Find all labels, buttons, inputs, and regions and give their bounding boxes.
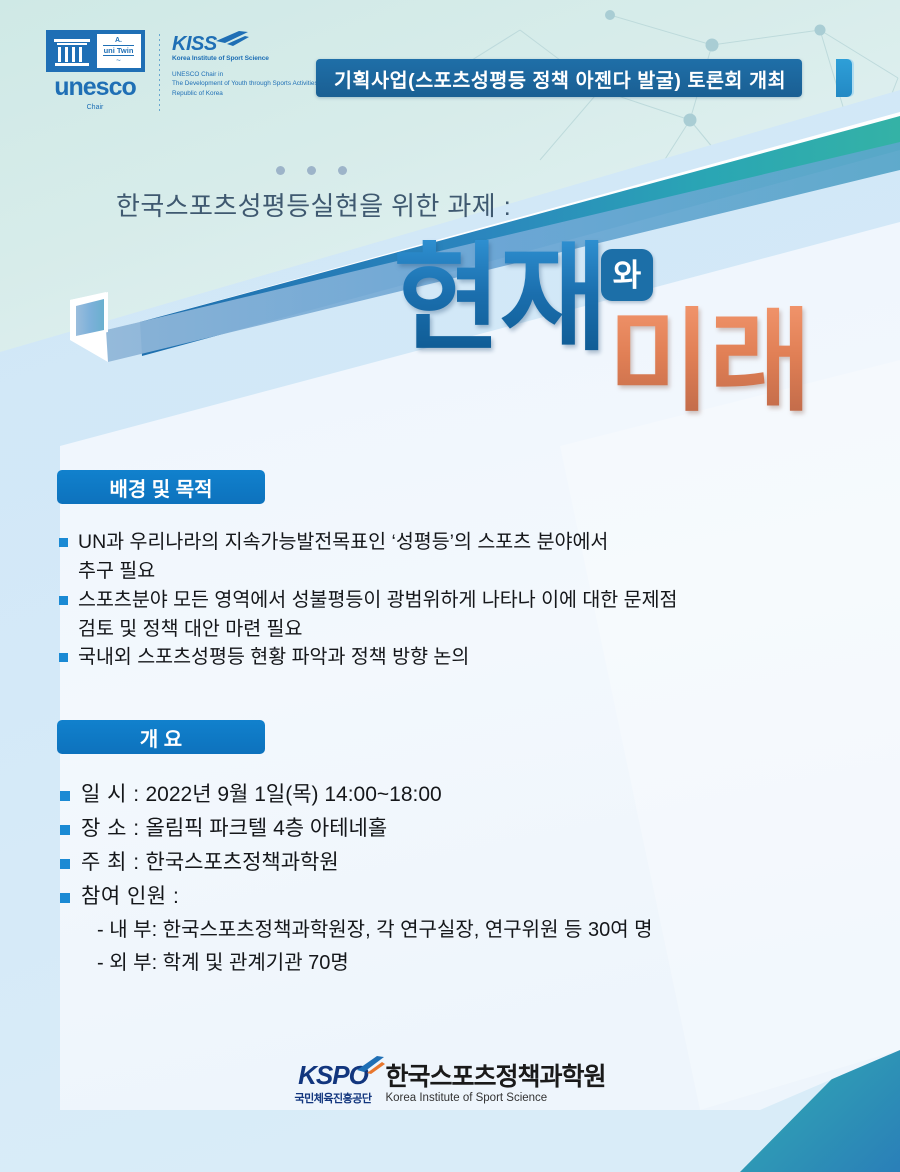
kiss-chair-block: UNESCO Chair in The Development of Youth… (172, 70, 318, 98)
kspo-swoosh-icon (355, 1054, 385, 1074)
overview-label-3: 참여 인원 : (81, 880, 179, 914)
decorative-dots (276, 166, 347, 175)
list-item: 장 소 : 올림픽 파크텔 4층 아테네홀 (57, 812, 900, 846)
list-item: UN과 우리나라의 지속가능발전목표인 ‘성평등’의 스포츠 분야에서 (57, 528, 900, 557)
logo-divider (159, 34, 160, 111)
background-bullet-list: UN과 우리나라의 지속가능발전목표인 ‘성평등’의 스포츠 분야에서 추구 필… (57, 528, 900, 672)
kiss-footer-korean: 한국스포츠정책과학원 (385, 1064, 605, 1092)
list-item-cont: 검토 및 정책 대안 마련 필요 (57, 615, 900, 644)
bullet-line-1: UN과 우리나라의 지속가능발전목표인 ‘성평등’의 스포츠 분야에서 (78, 531, 608, 553)
section1-pill: 배경 및 목적 (57, 470, 265, 504)
overview-value-1: 올림픽 파크텔 4층 아테네홀 (146, 817, 388, 840)
overview-value-2: 한국스포츠정책과학원 (146, 851, 339, 874)
overview-list: 일 시 : 2022년 9월 1일(목) 14:00~18:00 장 소 : 올… (57, 778, 900, 914)
section-header-overview: 개 요 (57, 720, 242, 756)
bullet-line-3: 국내외 스포츠성평등 현황 파악과 정책 방향 논의 (78, 646, 469, 668)
kiss-footer-english: Korea Institute of Sport Science (385, 1092, 605, 1104)
list-item: 참여 인원 : (57, 880, 900, 914)
kiss-wordmark: KISS (172, 34, 217, 54)
list-item: 스포츠분야 모든 영역에서 성불평등이 광범위하게 나타나 이에 대한 문제점 (57, 586, 900, 615)
kiss-swoosh-icon (215, 30, 249, 46)
kiss-chair-line3: Republic of Korea (172, 89, 318, 98)
list-item: 국내외 스포츠성평등 현황 파악과 정책 방향 논의 (57, 643, 900, 672)
kiss-chair-line1: UNESCO Chair in (172, 70, 318, 79)
overview-label-0: 일 시 : (81, 778, 140, 812)
kiss-chair-line2: The Development of Youth through Sports … (172, 79, 318, 88)
header-banner-text: 기획사업(스포츠성평등 정책 아젠다 발굴) 토론회 개최 (334, 64, 786, 93)
participant-sublist: - 내 부: 한국스포츠정책과학원장, 각 연구실장, 연구위원 등 30여 명… (57, 914, 900, 979)
unitwin-bot: ~ (116, 57, 121, 65)
overview-value-0: 2022년 9월 1일(목) 14:00~18:00 (146, 783, 442, 806)
section-header-background: 배경 및 목적 (57, 470, 242, 506)
banner-tab-inner (836, 59, 852, 97)
kiss-logo: KISS Korea Institute of Sport Science UN… (172, 30, 318, 98)
hero-subtitle: 한국스포츠성평등실현을 위한 과제 : (116, 186, 511, 223)
unitwin-icon: A. uni Twin ~ (97, 34, 141, 68)
kiss-subtitle: Korea Institute of Sport Science (172, 55, 318, 62)
overview-label-1: 장 소 : (81, 812, 140, 846)
bullet-line-1b: 추구 필요 (78, 560, 155, 582)
bullet-line-2b: 검토 및 정책 대안 마련 필요 (78, 618, 302, 640)
logo-group: A. uni Twin ~ unesco Chair KISS Korea In… (45, 30, 318, 111)
bullet-line-2: 스포츠분야 모든 영역에서 성불평등이 광범위하게 나타나 이에 대한 문제점 (78, 589, 677, 611)
list-item: 일 시 : 2022년 9월 1일(목) 14:00~18:00 (57, 778, 900, 812)
kspo-subtitle: 국민체육진흥공단 (295, 1090, 372, 1106)
section2-pill: 개 요 (57, 720, 265, 754)
footer-logos: KSPO 국민체육진흥공단 한국스포츠정책과학원 Korea Institute… (0, 1062, 900, 1106)
header-banner: 기획사업(스포츠성평등 정책 아젠다 발굴) 토론회 개최 (316, 59, 802, 97)
overview-label-2: 주 최 : (81, 846, 140, 880)
list-item: 주 최 : 한국스포츠정책과학원 (57, 846, 900, 880)
list-item: - 내 부: 한국스포츠정책과학원장, 각 연구실장, 연구위원 등 30여 명 (97, 914, 900, 946)
list-item: - 외 부: 학계 및 관계기관 70명 (97, 947, 900, 979)
poster-root: A. uni Twin ~ unesco Chair KISS Korea In… (0, 0, 900, 1172)
list-item-cont: 추구 필요 (57, 557, 900, 586)
unitwin-top: A. (115, 37, 122, 44)
unesco-wordmark: unesco (54, 73, 136, 102)
unesco-emblem: A. uni Twin ~ (46, 30, 145, 72)
kspo-logo: KSPO 국민체육진흥공단 (295, 1062, 372, 1106)
section2-title: 개 요 (140, 723, 182, 752)
unesco-logo: A. uni Twin ~ unesco Chair (45, 30, 145, 111)
unitwin-mid: uni Twin (103, 45, 135, 56)
section1-title: 배경 및 목적 (109, 473, 212, 502)
content-area: 배경 및 목적 UN과 우리나라의 지속가능발전목표인 ‘성평등’의 스포츠 분… (57, 470, 900, 1110)
unesco-temple-icon (50, 34, 94, 68)
kiss-footer-logo: 한국스포츠정책과학원 Korea Institute of Sport Scie… (385, 1064, 605, 1105)
unesco-chair-label: Chair (87, 104, 104, 111)
